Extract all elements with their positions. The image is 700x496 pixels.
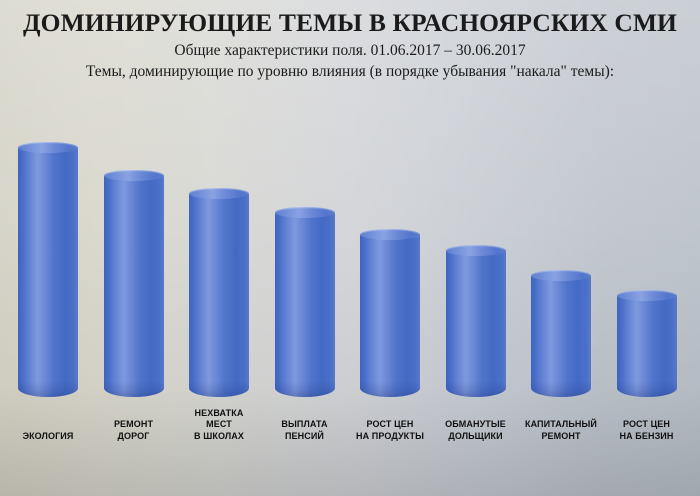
bar-top-cap — [104, 170, 164, 181]
bar-cylinder — [189, 188, 249, 397]
page-subtitle: Общие характеристики поля. 01.06.2017 – … — [0, 42, 700, 60]
bar-body — [446, 250, 506, 397]
bar-cylinder — [617, 290, 677, 397]
page-title: ДОМИНИРУЮЩИЕ ТЕМЫ В КРАСНОЯРСКИХ СМИ — [0, 8, 700, 38]
bar-body — [617, 295, 677, 397]
bar-label-line: ДОЛЬЩИКИ — [433, 431, 519, 443]
bar-label-line: РЕМОНТ — [91, 419, 177, 431]
bar-cylinder — [446, 245, 506, 397]
bar-top-cap — [360, 229, 420, 240]
page-subtitle-secondary: Темы, доминирующие по уровню влияния (в … — [0, 63, 700, 81]
bar-label-line: ПЕНСИЙ — [262, 431, 348, 443]
bar-base-shadow — [189, 381, 249, 397]
bar-cylinder — [104, 170, 164, 397]
bar-cylinder — [360, 229, 420, 397]
bar-label-line: ЭКОЛОГИЯ — [5, 431, 91, 443]
bar-top-cap — [531, 270, 591, 281]
bar-base-shadow — [446, 381, 506, 397]
bar-label: РОСТ ЦЕННА БЕНЗИН — [604, 419, 690, 442]
bar-body — [531, 275, 591, 397]
bar-base-shadow — [617, 381, 677, 397]
bar-label-line: НА БЕНЗИН — [604, 431, 690, 443]
bar-label-line: НА ПРОДУКТЫ — [347, 431, 433, 443]
bar-body — [275, 212, 335, 397]
bar-base-shadow — [531, 381, 591, 397]
bar-label: ЭКОЛОГИЯ — [5, 431, 91, 443]
bar-cylinder — [275, 207, 335, 397]
bar-base-shadow — [275, 381, 335, 397]
bar-label: НЕХВАТКАМЕСТВ ШКОЛАХ — [176, 408, 262, 443]
bar-label: ВЫПЛАТАПЕНСИЙ — [262, 419, 348, 442]
bar-cylinder — [531, 270, 591, 397]
bar-base-shadow — [18, 381, 78, 397]
bar-body — [18, 147, 78, 397]
bar-base-shadow — [360, 381, 420, 397]
infographic-canvas: ДОМИНИРУЮЩИЕ ТЕМЫ В КРАСНОЯРСКИХ СМИ Общ… — [0, 0, 700, 496]
bar-label-line: В ШКОЛАХ — [176, 431, 262, 443]
bar-label-line: КАПИТАЛЬНЫЙ — [518, 419, 604, 431]
bar-base-shadow — [104, 381, 164, 397]
bar-label: РЕМОНТДОРОГ — [91, 419, 177, 442]
bar-body — [360, 234, 420, 397]
bar-top-cap — [189, 188, 249, 199]
bar-body — [189, 193, 249, 397]
bar-label-line: ВЫПЛАТА — [262, 419, 348, 431]
bar-label-line: РОСТ ЦЕН — [604, 419, 690, 431]
bar-cylinder — [18, 142, 78, 397]
bar-label-line: ОБМАНУТЫЕ — [433, 419, 519, 431]
bar-top-cap — [275, 207, 335, 218]
bar-label-line: РЕМОНТ — [518, 431, 604, 443]
bar-label: РОСТ ЦЕННА ПРОДУКТЫ — [347, 419, 433, 442]
bar-label-line: НЕХВАТКА — [176, 408, 262, 420]
bar-label-line: МЕСТ — [176, 419, 262, 431]
bar-top-cap — [18, 142, 78, 153]
bar-label: КАПИТАЛЬНЫЙРЕМОНТ — [518, 419, 604, 442]
header-block: ДОМИНИРУЮЩИЕ ТЕМЫ В КРАСНОЯРСКИХ СМИ Общ… — [0, 0, 700, 81]
bar-label: ОБМАНУТЫЕДОЛЬЩИКИ — [433, 419, 519, 442]
bar-top-cap — [617, 290, 677, 301]
bar-label-line: РОСТ ЦЕН — [347, 419, 433, 431]
bar-label-line: ДОРОГ — [91, 431, 177, 443]
bar-top-cap — [446, 245, 506, 256]
bar-body — [104, 175, 164, 397]
